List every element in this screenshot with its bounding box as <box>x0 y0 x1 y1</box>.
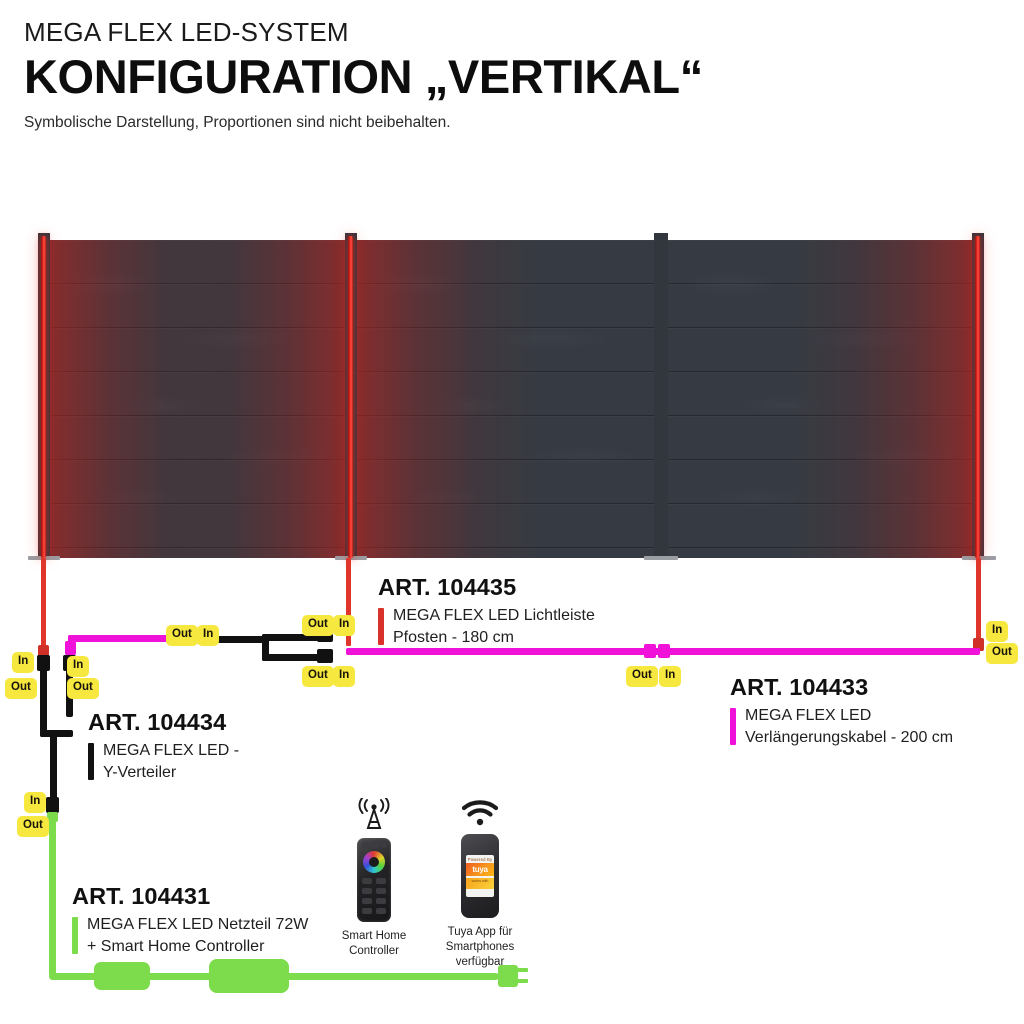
article-description: MEGA FLEX LED Verlängerungskabel - 200 c… <box>730 705 1020 750</box>
article-line-2: Verlängerungskabel - 200 cm <box>745 727 1020 750</box>
accent-bar-magenta <box>730 708 736 745</box>
badge-post1-out: Out <box>5 678 37 699</box>
device-phone: Powered By tuya works with Tuya App für … <box>424 798 536 971</box>
badge-mid-left-in: In <box>197 625 219 646</box>
badge-y-right-top-out: Out <box>302 615 334 636</box>
remote-button-extra[interactable] <box>381 842 387 848</box>
device-caption: Tuya App für Smartphones verfügbar <box>424 925 536 971</box>
fence-panel-1 <box>44 240 352 558</box>
remote-button-row3-a[interactable] <box>362 898 372 904</box>
phone-screen: Powered By tuya works with <box>466 855 494 897</box>
caption-line-1: Smart Home <box>330 929 418 944</box>
wifi-dot <box>477 819 483 825</box>
connector-y-left-trunk-end <box>46 797 59 813</box>
red-lead-post1 <box>41 558 46 652</box>
article-code: ART. 104434 <box>88 710 348 735</box>
article-code: ART. 104435 <box>378 575 678 600</box>
fence-panel-2 <box>350 240 662 558</box>
fence-panel-3 <box>660 240 980 558</box>
badge-y-right-top-in: In <box>333 615 355 636</box>
smart-home-controller-box <box>94 962 150 990</box>
article-description: MEGA FLEX LED - Y-Verteiler <box>88 740 348 785</box>
accent-bar-red <box>378 608 384 645</box>
badge-psu-out: Out <box>17 816 49 837</box>
tuya-works-with-text: works with <box>466 878 494 889</box>
led-strip-post-2 <box>348 236 353 558</box>
connector-magenta-y-left <box>65 641 76 655</box>
tuya-logo: tuya <box>466 863 494 876</box>
remote-control-body[interactable] <box>357 838 391 922</box>
led-strip-post-4 <box>975 236 980 558</box>
article-line-1: MEGA FLEX LED Lichtleiste <box>393 605 678 628</box>
remote-button-mode[interactable] <box>372 842 380 848</box>
article-line-1: MEGA FLEX LED <box>745 705 1020 728</box>
badge-post1-in: In <box>12 652 34 673</box>
magenta-corner-right <box>973 648 980 654</box>
accent-bar-green <box>72 917 78 954</box>
green-riser <box>49 818 56 976</box>
article-line-2: Y-Verteiler <box>103 762 348 785</box>
badge-y-left-in: In <box>67 656 89 677</box>
led-strip-post-1 <box>41 236 46 558</box>
article-description: MEGA FLEX LED Lichtleiste Pfosten - 180 … <box>378 605 678 650</box>
remote-button-row2-b[interactable] <box>376 888 386 894</box>
remote-button-row2-a[interactable] <box>362 888 372 894</box>
device-caption: Smart Home Controller <box>330 929 418 959</box>
smartphone-body[interactable]: Powered By tuya works with <box>461 834 499 918</box>
caption-line-2: Controller <box>330 944 418 959</box>
wifi-icon <box>460 798 500 828</box>
caption-line-2: Smartphones verfügbar <box>424 940 536 970</box>
tuya-powered-by-text: Powered By <box>468 857 493 862</box>
connector-y-mid-bottom <box>317 649 333 663</box>
panel-texture <box>660 240 980 558</box>
badge-ext-in: In <box>659 666 681 687</box>
remote-button-row4-a[interactable] <box>362 908 372 914</box>
article-code: ART. 104433 <box>730 675 1020 700</box>
article-line-1: MEGA FLEX LED - <box>103 740 348 763</box>
article-label-104435: ART. 104435 MEGA FLEX LED Lichtleiste Pf… <box>378 575 678 650</box>
panel-texture <box>350 240 662 558</box>
badge-y-right-bot-out: Out <box>302 666 334 687</box>
badge-post4-out: Out <box>986 643 1018 664</box>
badge-mid-left-out: Out <box>166 625 198 646</box>
article-line-2: Pfosten - 180 cm <box>393 627 678 650</box>
red-lead-post4 <box>976 558 981 646</box>
badge-ext-out: Out <box>626 666 658 687</box>
plug-pin-bottom <box>517 979 528 983</box>
power-supply-box <box>209 959 289 993</box>
badge-psu-in: In <box>24 792 46 813</box>
article-label-104433: ART. 104433 MEGA FLEX LED Verlängerungsk… <box>730 675 1020 750</box>
remote-button-row4-b[interactable] <box>376 908 386 914</box>
device-remote: Smart Home Controller <box>330 798 418 959</box>
remote-button-row1-b[interactable] <box>376 878 386 884</box>
article-label-104434: ART. 104434 MEGA FLEX LED - Y-Verteiler <box>88 710 348 785</box>
accent-bar-black <box>88 743 94 780</box>
fence-post-3-unlit <box>654 233 668 558</box>
remote-button-row3-b[interactable] <box>376 898 386 904</box>
badge-y-right-bot-in: In <box>333 666 355 687</box>
caption-line-1: Tuya App für <box>424 925 536 940</box>
badge-post4-in: In <box>986 621 1008 642</box>
rgb-color-wheel[interactable] <box>363 851 385 873</box>
panel-texture <box>44 240 352 558</box>
remote-button-row1-a[interactable] <box>362 878 372 884</box>
connector-y-left-a <box>37 655 50 671</box>
fence-post-foot-3 <box>644 556 678 560</box>
rf-mast <box>368 810 380 829</box>
rf-signal-icon <box>354 798 394 832</box>
badge-y-left-out: Out <box>67 678 99 699</box>
remote-button-power[interactable] <box>362 842 370 848</box>
